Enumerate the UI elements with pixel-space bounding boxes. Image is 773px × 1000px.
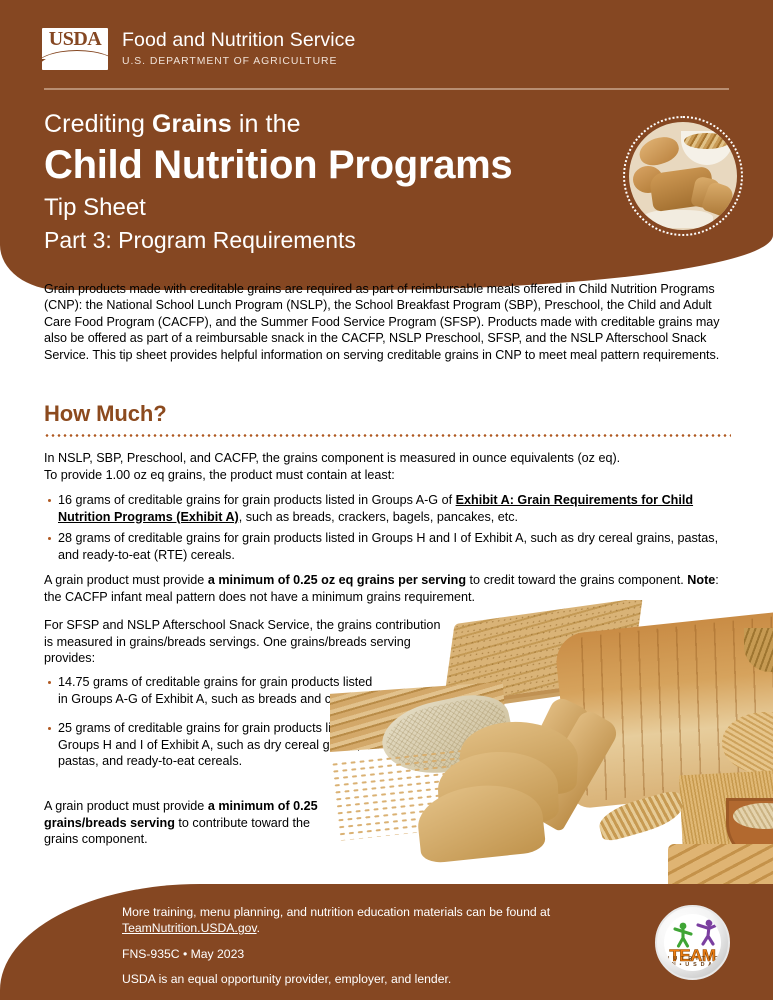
note2-pre: A grain product must provide <box>44 799 208 813</box>
footer-line1-post: . <box>257 921 260 935</box>
purple-figure-icon <box>694 919 720 947</box>
list-item: 14.75 grams of creditable grains for gra… <box>46 674 376 707</box>
list-item: 28 grams of creditable grains for grain … <box>46 530 738 563</box>
grain-foods-photo <box>330 600 773 890</box>
note1-pre: A grain product must provide <box>44 573 208 587</box>
page-part-label: Part 3: Program Requirements <box>44 225 624 256</box>
bullet-1-pre: 16 grams of creditable grains for grain … <box>58 493 456 507</box>
eyebrow-suffix: in the <box>232 110 301 138</box>
servings-minimum-note: A grain product must provide a minimum o… <box>44 798 344 848</box>
dotted-divider <box>44 434 731 437</box>
bullet-1-post: , such as breads, crackers, bagels, panc… <box>239 510 518 524</box>
usda-plate-shape <box>42 59 108 70</box>
header-divider <box>44 88 729 90</box>
footer-eeo-statement: USDA is an equal opportunity provider, e… <box>122 971 592 987</box>
agency-department: U.S. DEPARTMENT OF AGRICULTURE <box>122 55 355 68</box>
page-eyebrow: Crediting Grains in the <box>44 108 624 140</box>
usda-logo-text: USDA <box>49 29 101 49</box>
oz-eq-bullet-list: 16 grams of creditable grains for grain … <box>46 492 738 568</box>
intro-paragraph: Grain products made with creditable grai… <box>44 281 734 363</box>
note1-label: Note <box>687 573 715 587</box>
team-nutrition-link[interactable]: TeamNutrition.USDA.gov <box>122 921 257 935</box>
list-item: 16 grams of creditable grains for grain … <box>46 492 738 525</box>
usda-logo-icon: USDA <box>42 28 108 70</box>
photo-dotted-ring <box>623 116 743 236</box>
team-nutrition-logo: TEAM N U T R I T I O N • U S D A <box>655 905 730 980</box>
oz-eq-lead: In NSLP, SBP, Preschool, and CACFP, the … <box>44 450 734 483</box>
bullet-2-text: 28 grams of creditable grains for grain … <box>58 531 718 562</box>
footer-resources-line: More training, menu planning, and nutrit… <box>122 904 592 937</box>
note1-bold: a minimum of 0.25 oz eq grains per servi… <box>208 573 466 587</box>
servings-bullet-list: 14.75 grams of creditable grains for gra… <box>46 674 376 783</box>
section-heading-how-much: How Much? <box>44 401 167 427</box>
footer-publication-id: FNS-935C • May 2023 <box>122 946 592 962</box>
agency-name: Food and Nutrition Service <box>122 29 355 52</box>
oz-eq-lead-line2: To provide 1.00 oz eq grains, the produc… <box>44 468 395 482</box>
oz-eq-lead-line1: In NSLP, SBP, Preschool, and CACFP, the … <box>44 451 620 465</box>
team-nutrition-logo-inner: TEAM N U T R I T I O N • U S D A <box>664 914 721 971</box>
page-title: Child Nutrition Programs <box>44 142 624 189</box>
note1-mid: to credit toward the grains component. <box>466 573 687 587</box>
usda-branding: USDA Food and Nutrition Service U.S. DEP… <box>42 28 355 70</box>
eyebrow-bold: Grains <box>152 110 232 138</box>
eyebrow-prefix: Crediting <box>44 110 152 138</box>
page-subtitle: Tip Sheet <box>44 192 624 223</box>
agency-names: Food and Nutrition Service U.S. DEPARTME… <box>122 28 355 68</box>
footer-line1-pre: More training, menu planning, and nutrit… <box>122 905 550 919</box>
list-item: 25 grams of creditable grains for grain … <box>46 720 376 770</box>
footer-text-block: More training, menu planning, and nutrit… <box>122 904 592 988</box>
page-header: USDA Food and Nutrition Service U.S. DEP… <box>0 0 773 290</box>
green-figure-icon <box>672 922 696 948</box>
team-nutrition-arc-text: N U T R I T I O N • U S D A <box>664 956 721 968</box>
title-block: Crediting Grains in the Child Nutrition … <box>44 108 624 256</box>
